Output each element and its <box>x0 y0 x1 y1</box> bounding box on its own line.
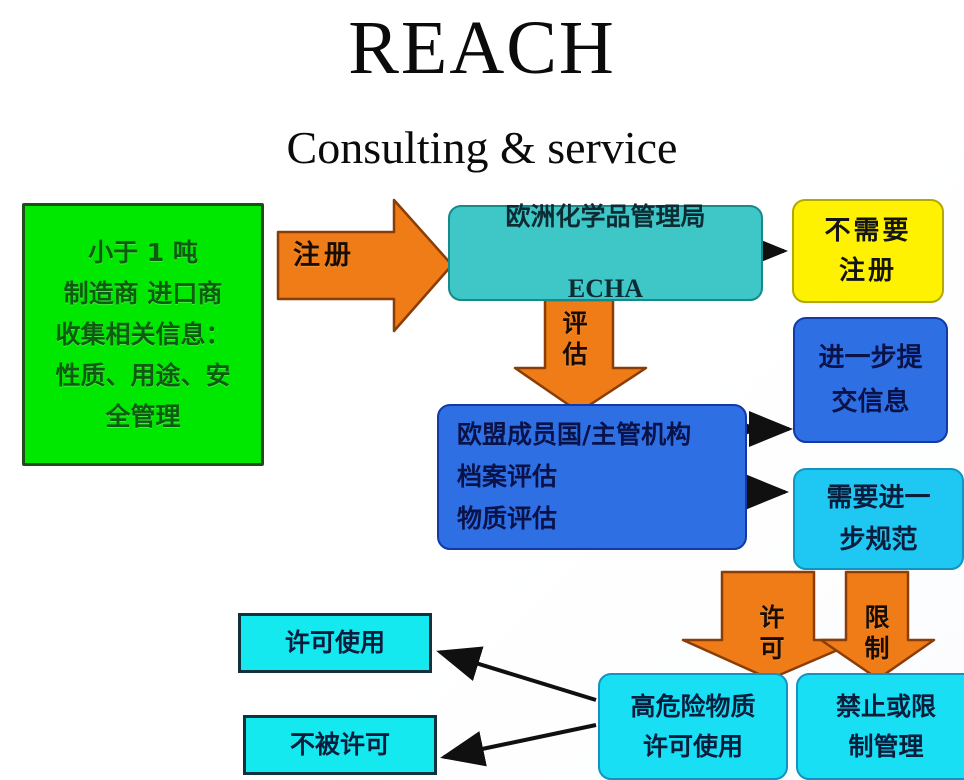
page-subtitle: Consulting & service <box>0 120 964 176</box>
page-title: REACH <box>0 6 964 90</box>
restrict-arrow-label: 限 制 <box>862 602 892 664</box>
highrisk-to-permitted-line <box>440 652 596 700</box>
node-further-info: 进一步提 交信息 <box>793 317 948 443</box>
node-echa-line1: 欧洲化学品管理局 <box>505 199 705 235</box>
node-member-states: 欧盟成员国/主管机构 档案评估 物质评估 <box>437 404 747 550</box>
register-arrow-label: 注册 <box>293 233 355 272</box>
node-not-permitted: 不被许可 <box>243 715 437 775</box>
node-permitted-use: 许可使用 <box>238 613 432 673</box>
diagram-canvas: REACH Consulting & service <box>0 0 964 780</box>
highrisk-to-not-permitted-line <box>444 725 596 757</box>
permit-arrow-label: 许 可 <box>757 602 787 664</box>
node-further-regulation: 需要进一 步规范 <box>793 468 964 570</box>
node-prohibit-or-restrict: 禁止或限 制管理 <box>796 673 964 780</box>
node-no-registration: 不需要 注册 <box>792 199 944 303</box>
node-green-input: 小于 1 吨 制造商 进口商 收集相关信息： 性质、用途、安 全管理 <box>22 203 264 466</box>
node-echa: 欧洲化学品管理局 ECHA <box>448 205 763 301</box>
node-echa-line2: ECHA <box>505 271 705 307</box>
node-high-risk-permitted: 高危险物质 许可使用 <box>598 673 788 780</box>
